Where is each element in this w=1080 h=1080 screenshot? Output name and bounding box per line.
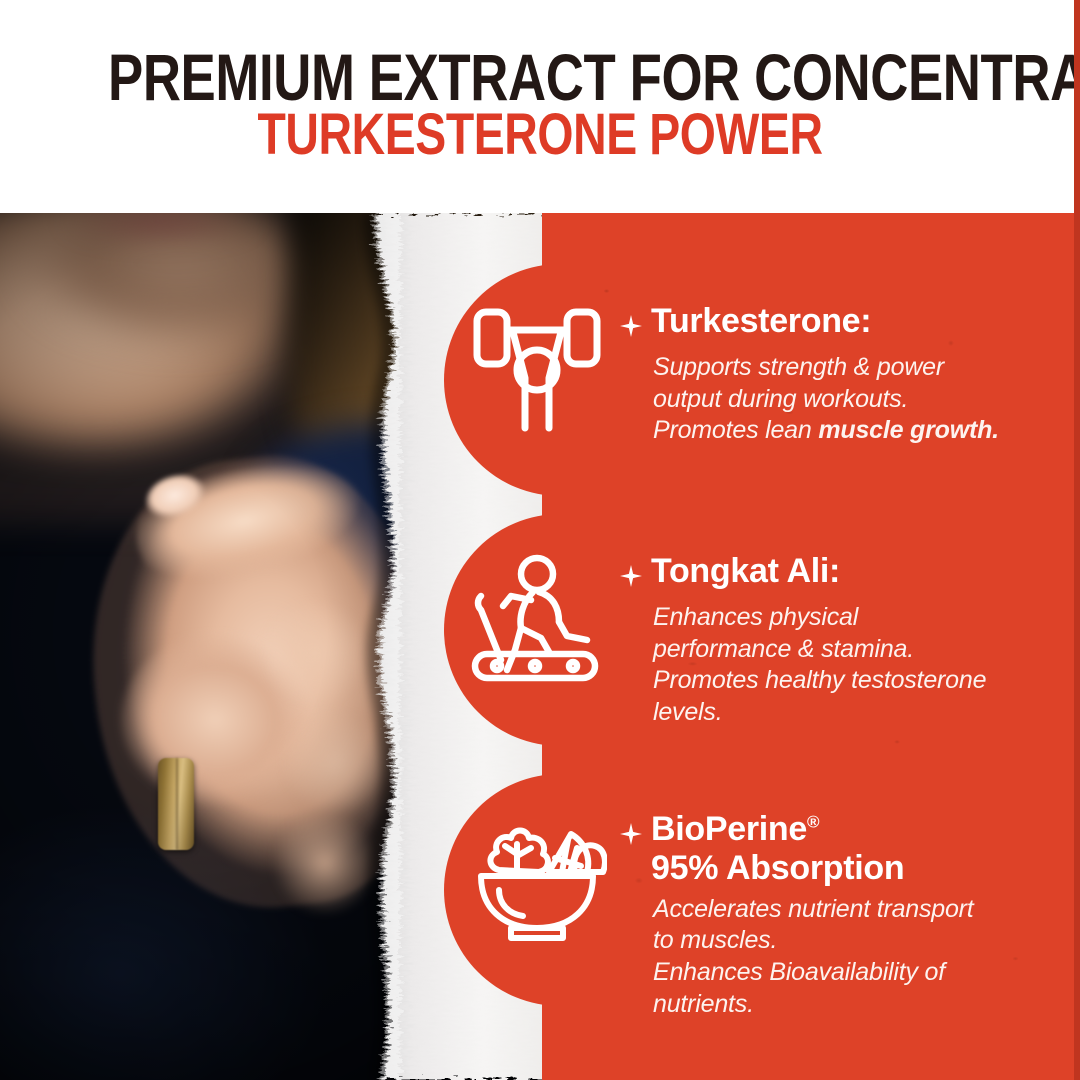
headline-band: PREMIUM EXTRACT FOR CONCENTRATED TURKEST… bbox=[0, 0, 1080, 213]
feature-3-body-l2: to muscles. bbox=[653, 926, 777, 954]
right-edge-strip bbox=[1074, 0, 1080, 1080]
feature-1-title: Turkesterone: bbox=[620, 302, 999, 346]
feature-1-body-l3-prefix: Promotes lean bbox=[653, 416, 818, 444]
feature-1-body-l2: output during workouts. bbox=[653, 385, 908, 413]
feature-2-title-text: Tongkat Ali: bbox=[651, 552, 840, 591]
salad-bowl-icon bbox=[462, 810, 612, 942]
treadmill-runner-icon bbox=[462, 552, 612, 684]
feature-turkesterone: Turkesterone: Supports strength & powero… bbox=[462, 302, 1062, 447]
headline-line-1: PREMIUM EXTRACT FOR CONCENTRATED bbox=[108, 44, 972, 110]
feature-3-title-line2: 95% Absorption bbox=[651, 849, 904, 887]
sparkle-icon bbox=[620, 307, 642, 346]
feature-1-body-l3-bold: muscle growth. bbox=[818, 416, 999, 444]
feature-3-title: BioPerine®95% Absorption bbox=[620, 810, 974, 888]
headline-line-2: TURKESTERONE POWER bbox=[108, 106, 972, 164]
feature-3-title-line1: BioPerine bbox=[651, 810, 807, 848]
infographic-canvas: Turkesterone: Supports strength & powero… bbox=[0, 0, 1080, 1080]
feature-2-body-l4: levels. bbox=[653, 698, 722, 726]
feature-3-body: Accelerates nutrient transportto muscles… bbox=[620, 894, 974, 1021]
feature-2-text: Tongkat Ali: Enhances physicalperformanc… bbox=[612, 552, 986, 729]
feature-3-title-block: BioPerine®95% Absorption bbox=[651, 810, 904, 888]
weightlifter-icon bbox=[462, 302, 612, 434]
feature-2-body-l2: performance & stamina. bbox=[653, 635, 914, 663]
registered-trademark-icon: ® bbox=[807, 813, 819, 832]
feature-3-body-l1: Accelerates nutrient transport bbox=[653, 895, 974, 923]
feature-3-body-l4: nutrients. bbox=[653, 990, 754, 1018]
feature-2-body: Enhances physicalperformance & stamina.P… bbox=[620, 602, 986, 729]
feature-bioperine: BioPerine®95% Absorption Accelerates nut… bbox=[462, 810, 1062, 1021]
feature-2-title: Tongkat Ali: bbox=[620, 552, 986, 596]
feature-1-body-l1: Supports strength & power bbox=[653, 353, 944, 381]
feature-1-body: Supports strength & poweroutput during w… bbox=[620, 352, 999, 447]
sparkle-icon bbox=[620, 557, 642, 596]
feature-3-body-l3: Enhances Bioavailability of bbox=[653, 958, 945, 986]
feature-tongkat-ali: Tongkat Ali: Enhances physicalperformanc… bbox=[462, 552, 1062, 729]
feature-3-text: BioPerine®95% Absorption Accelerates nut… bbox=[612, 810, 974, 1021]
feature-2-body-l1: Enhances physical bbox=[653, 603, 858, 631]
feature-1-title-text: Turkesterone: bbox=[651, 302, 871, 341]
sparkle-icon bbox=[620, 815, 642, 854]
feature-2-body-l3: Promotes healthy testosterone bbox=[653, 666, 986, 694]
feature-1-text: Turkesterone: Supports strength & powero… bbox=[612, 302, 999, 447]
